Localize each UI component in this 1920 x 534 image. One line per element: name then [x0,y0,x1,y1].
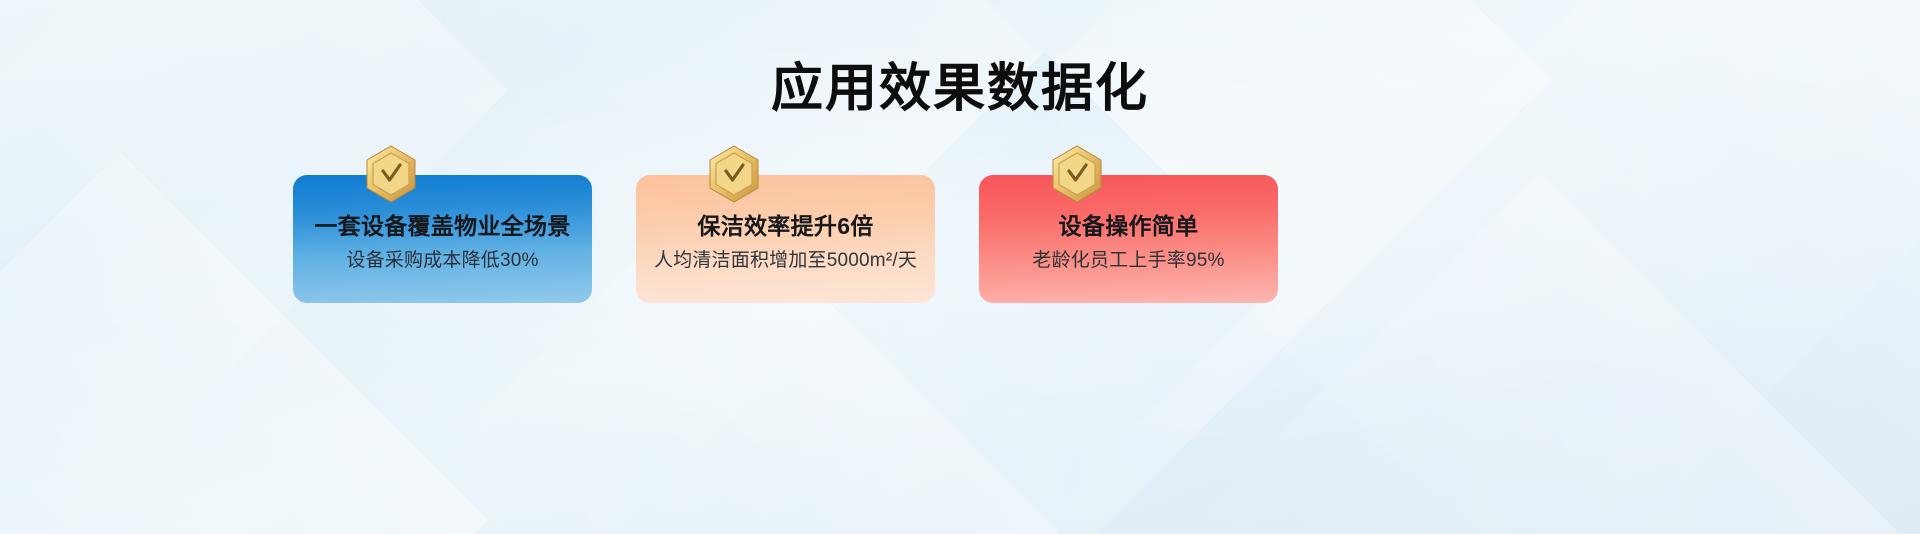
stat-card-coverage[interactable]: 一套设备覆盖物业全场景 设备采购成本降低30% [293,175,592,303]
stat-card-title: 设备操作简单 [1059,211,1199,241]
gold-hexagon-check-icon [365,145,417,203]
gold-hexagon-check-icon [708,145,760,203]
stat-card-subtitle: 老龄化员工上手率95% [1032,248,1224,274]
stat-card-efficiency[interactable]: 保洁效率提升6倍 人均清洁面积增加至5000m²/天 [636,175,935,303]
stat-card-list: 一套设备覆盖物业全场景 设备采购成本降低30% [293,175,1278,303]
stat-card-subtitle: 人均清洁面积增加至5000m²/天 [654,248,917,274]
page-title: 应用效果数据化 [0,58,1920,120]
stat-card-subtitle: 设备采购成本降低30% [346,248,538,274]
gold-hexagon-check-icon [1051,145,1103,203]
promo-banner: 应用效果数据化 [0,0,1920,534]
stat-card-title: 一套设备覆盖物业全场景 [314,211,570,241]
stat-card-title: 保洁效率提升6倍 [697,211,873,241]
stat-card-simplicity[interactable]: 设备操作简单 老龄化员工上手率95% [979,175,1278,303]
